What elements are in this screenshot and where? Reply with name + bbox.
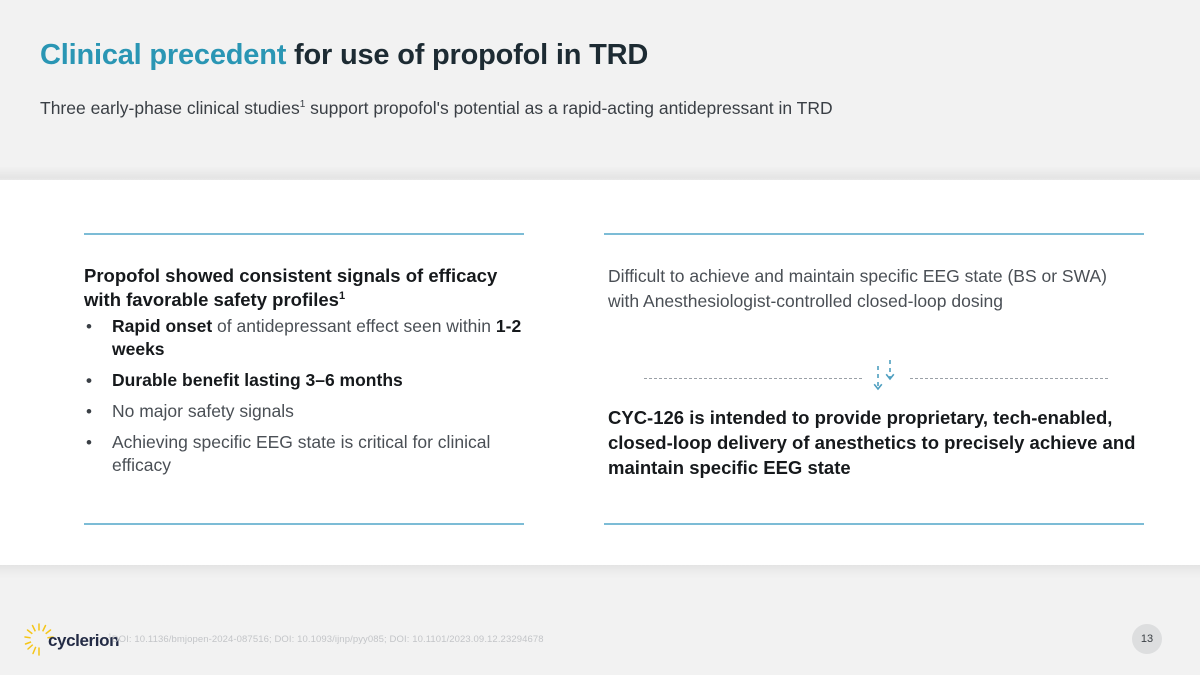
left-column-heading: Propofol showed consistent signals of ef… — [84, 264, 524, 312]
divider-dashed-line-right — [910, 378, 1108, 379]
list-item-text: Achieving specific EEG state is critical… — [112, 432, 490, 475]
page-title-accent: Clinical precedent — [40, 39, 286, 71]
page-subtitle: Three early-phase clinical studies1 supp… — [40, 96, 860, 120]
footnote-text: DOI: 10.1136/bmjopen-2024-087516; DOI: 1… — [112, 634, 544, 645]
left-column-heading-footnote-marker: 1 — [339, 290, 345, 302]
right-column-top-rule — [604, 233, 1144, 235]
left-column-bottom-rule — [84, 523, 524, 525]
left-column-top-rule — [84, 233, 524, 235]
double-down-arrow-icon — [866, 358, 910, 398]
bullet-glyph: • — [86, 400, 92, 423]
list-item: •Rapid onset of antidepressant effect se… — [84, 315, 534, 361]
divider-dashed-line-left — [644, 378, 862, 379]
list-item: •Durable benefit lasting 3–6 months — [84, 369, 534, 392]
slide: Clinical precedent for use of propofol i… — [0, 0, 1200, 675]
subtitle-text-after: support propofol's potential as a rapid-… — [305, 98, 832, 118]
page-title: Clinical precedent for use of propofol i… — [40, 39, 648, 72]
list-item-bold-lead: Rapid onset — [112, 316, 212, 336]
bullet-glyph: • — [86, 369, 92, 392]
list-item-text: No major safety signals — [112, 401, 294, 421]
content-band: Propofol showed consistent signals of ef… — [0, 180, 1200, 565]
bullet-glyph: • — [86, 315, 92, 338]
list-item-text: of antidepressant effect seen within — [212, 316, 496, 336]
list-item: •Achieving specific EEG state is critica… — [84, 431, 534, 477]
right-column-divider — [604, 358, 1144, 398]
subtitle-text-before: Three early-phase clinical studies — [40, 98, 300, 118]
header-band — [0, 0, 1200, 180]
list-item-text: Durable benefit lasting 3–6 months — [112, 370, 403, 390]
footer-divider-shadow — [0, 565, 1200, 579]
right-column-bottom-rule — [604, 523, 1144, 525]
footnote: 1DOI: 10.1136/bmjopen-2024-087516; DOI: … — [108, 634, 544, 645]
bullet-glyph: • — [86, 431, 92, 454]
left-column-bullet-list: •Rapid onset of antidepressant effect se… — [84, 315, 534, 485]
page-number-badge: 13 — [1132, 624, 1162, 654]
list-item: •No major safety signals — [84, 400, 534, 423]
footer-band — [0, 565, 1200, 675]
right-column-conclusion: CYC-126 is intended to provide proprieta… — [608, 405, 1148, 480]
brand-logo: cyclerion — [22, 621, 108, 657]
left-column-heading-text: Propofol showed consistent signals of ef… — [84, 265, 497, 310]
right-column-paragraph: Difficult to achieve and maintain specif… — [608, 264, 1138, 314]
page-title-rest: for use of propofol in TRD — [286, 39, 648, 71]
